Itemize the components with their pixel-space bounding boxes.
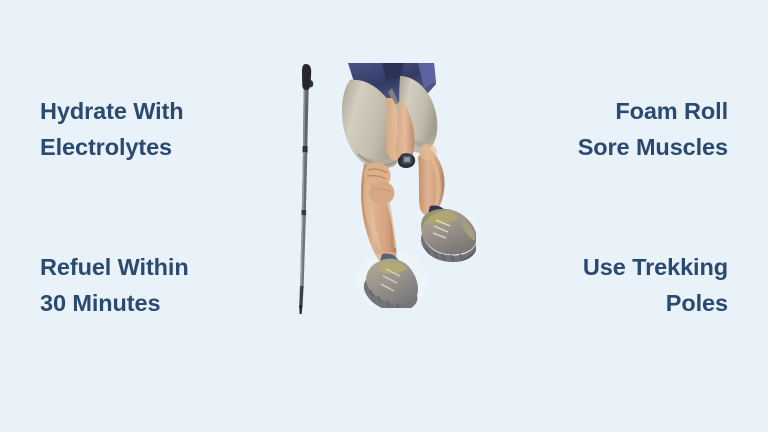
trekking-pole-icon [294, 62, 316, 316]
seated-hiker-figure [330, 58, 476, 308]
callout-use-trekking-poles: Use Trekking Poles [583, 249, 728, 321]
callout-foam-roll-sore-muscles: Foam Roll Sore Muscles [578, 93, 728, 165]
callout-refuel-within-30-minutes: Refuel Within 30 Minutes [40, 249, 189, 321]
slide-canvas: Hydrate With Electrolytes Foam Roll Sore… [0, 0, 768, 432]
callout-hydrate-with-electrolytes: Hydrate With Electrolytes [40, 93, 184, 165]
hiker-with-leg-cramp-photo [286, 58, 476, 316]
